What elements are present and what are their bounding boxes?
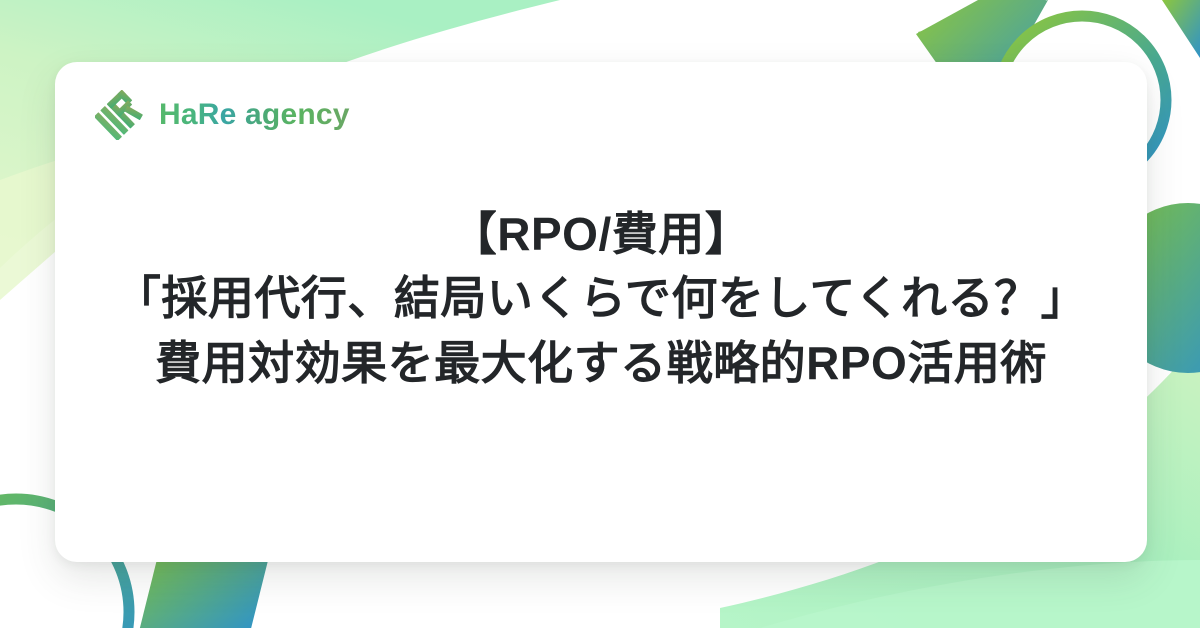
hare-logo-icon: [95, 90, 145, 140]
title-line-2: 「採用代行、結局いくらで何をしてくれる？」: [81, 266, 1121, 330]
og-image-canvas: HaRe agency 【RPO/費用】 「採用代行、結局いくらで何をしてくれる…: [0, 0, 1200, 628]
brand-name: HaRe agency: [159, 100, 350, 130]
title-line-3: 費用対効果を最大化する戦略的RPO活用術: [81, 331, 1121, 395]
page-title: 【RPO/費用】 「採用代行、結局いくらで何をしてくれる？」 費用対効果を最大化…: [55, 202, 1147, 395]
top-far-right-triangle: [1162, 0, 1200, 58]
brand-logo: HaRe agency: [95, 90, 350, 140]
content-card: HaRe agency 【RPO/費用】 「採用代行、結局いくらで何をしてくれる…: [55, 62, 1147, 562]
title-line-1: 【RPO/費用】: [81, 202, 1121, 266]
